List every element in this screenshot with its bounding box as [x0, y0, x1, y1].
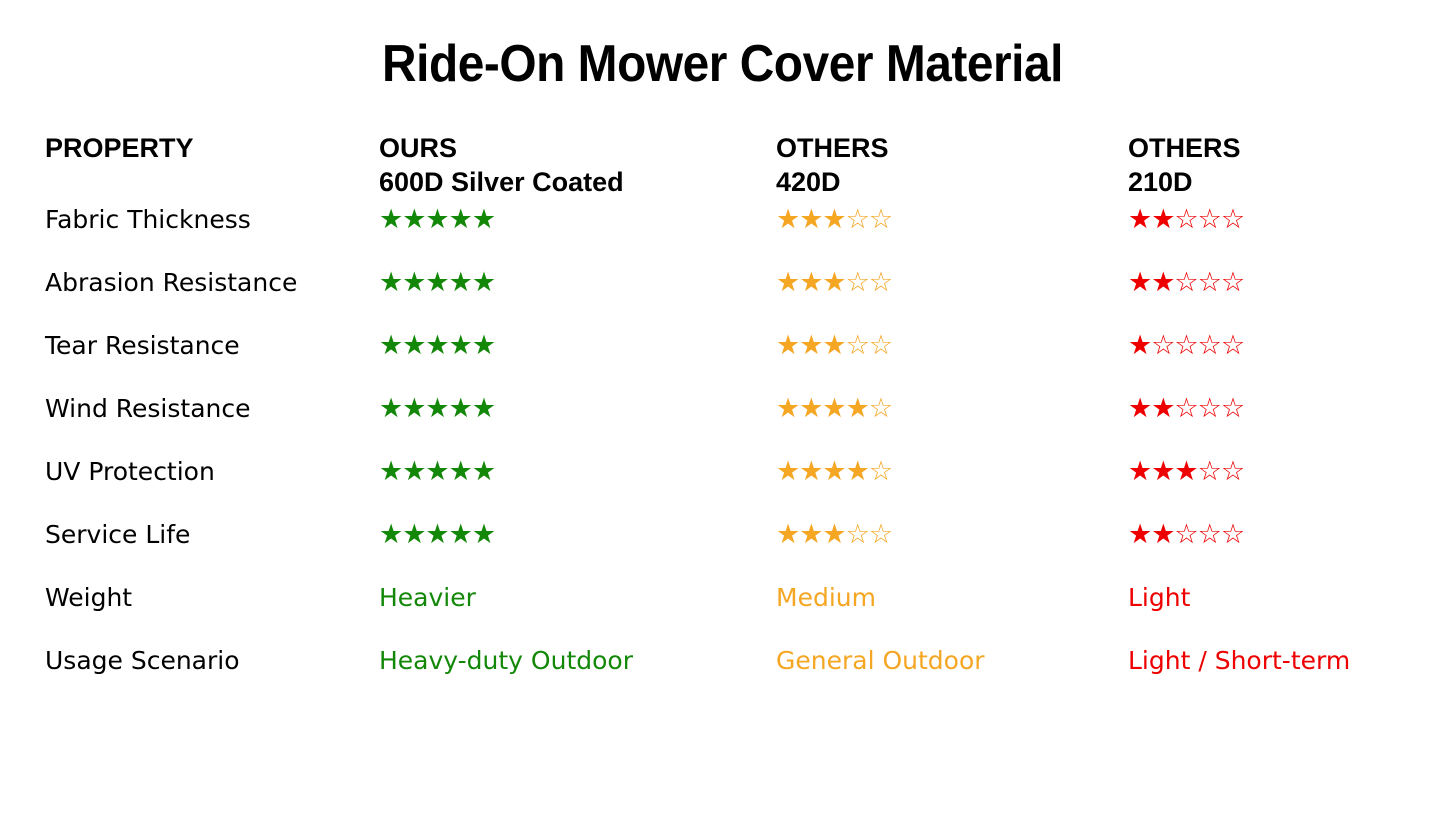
rating-stars-others-210d: ★★☆☆☆ [1128, 266, 1438, 300]
table-row: Tear Resistance ★★★★★ ★★★☆☆ ★☆☆☆☆ [0, 329, 1445, 392]
column-header-others-210d-line2: 210D [1128, 165, 1438, 199]
column-header-property: PROPERTY [45, 131, 375, 165]
column-header-ours-line1: OURS [379, 133, 457, 163]
row-label: Abrasion Resistance [45, 266, 375, 300]
table-header-row: PROPERTY OURS 600D Silver Coated OTHERS … [0, 131, 1445, 203]
rating-stars-others-210d: ★★☆☆☆ [1128, 518, 1438, 552]
row-label: Wind Resistance [45, 392, 375, 426]
table-row: Weight Heavier Medium Light [0, 581, 1445, 644]
value-ours: Heavier [379, 581, 769, 615]
column-header-ours-line2: 600D Silver Coated [379, 165, 769, 199]
rating-stars-others-420d: ★★★☆☆ [776, 329, 1121, 363]
table-row: Usage Scenario Heavy-duty Outdoor Genera… [0, 644, 1445, 707]
value-ours: Heavy-duty Outdoor [379, 644, 769, 678]
column-header-ours: OURS 600D Silver Coated [379, 131, 769, 199]
table-row: Fabric Thickness ★★★★★ ★★★☆☆ ★★☆☆☆ [0, 203, 1445, 266]
row-label: Weight [45, 581, 375, 615]
rating-stars-ours: ★★★★★ [379, 329, 769, 363]
row-label: Tear Resistance [45, 329, 375, 363]
row-label: Fabric Thickness [45, 203, 375, 237]
rating-stars-ours: ★★★★★ [379, 392, 769, 426]
row-label: Service Life [45, 518, 375, 552]
rating-stars-ours: ★★★★★ [379, 518, 769, 552]
rating-stars-others-210d: ★★★☆☆ [1128, 455, 1438, 489]
rating-stars-others-420d: ★★★★☆ [776, 392, 1121, 426]
rating-stars-others-420d: ★★★☆☆ [776, 203, 1121, 237]
rating-stars-ours: ★★★★★ [379, 455, 769, 489]
rating-stars-others-420d: ★★★★☆ [776, 455, 1121, 489]
comparison-table: PROPERTY OURS 600D Silver Coated OTHERS … [0, 131, 1445, 707]
rating-stars-others-210d: ★☆☆☆☆ [1128, 329, 1438, 363]
value-others-210d: Light / Short-term [1128, 644, 1438, 678]
comparison-table-page: Ride-On Mower Cover Material PROPERTY OU… [0, 0, 1445, 813]
column-header-others-420d: OTHERS 420D [776, 131, 1121, 199]
rating-stars-others-210d: ★★☆☆☆ [1128, 203, 1438, 237]
rating-stars-ours: ★★★★★ [379, 266, 769, 300]
value-others-210d: Light [1128, 581, 1438, 615]
column-header-others-420d-line1: OTHERS [776, 133, 889, 163]
rating-stars-ours: ★★★★★ [379, 203, 769, 237]
rating-stars-others-210d: ★★☆☆☆ [1128, 392, 1438, 426]
row-label: UV Protection [45, 455, 375, 489]
value-others-420d: Medium [776, 581, 1121, 615]
table-row: Service Life ★★★★★ ★★★☆☆ ★★☆☆☆ [0, 518, 1445, 581]
column-header-property-line1: PROPERTY [45, 133, 194, 163]
column-header-others-210d-line1: OTHERS [1128, 133, 1241, 163]
table-row: Abrasion Resistance ★★★★★ ★★★☆☆ ★★☆☆☆ [0, 266, 1445, 329]
table-row: Wind Resistance ★★★★★ ★★★★☆ ★★☆☆☆ [0, 392, 1445, 455]
page-title: Ride-On Mower Cover Material [58, 34, 1387, 94]
rating-stars-others-420d: ★★★☆☆ [776, 518, 1121, 552]
row-label: Usage Scenario [45, 644, 375, 678]
value-others-420d: General Outdoor [776, 644, 1121, 678]
column-header-others-210d: OTHERS 210D [1128, 131, 1438, 199]
table-row: UV Protection ★★★★★ ★★★★☆ ★★★☆☆ [0, 455, 1445, 518]
column-header-others-420d-line2: 420D [776, 165, 1121, 199]
rating-stars-others-420d: ★★★☆☆ [776, 266, 1121, 300]
